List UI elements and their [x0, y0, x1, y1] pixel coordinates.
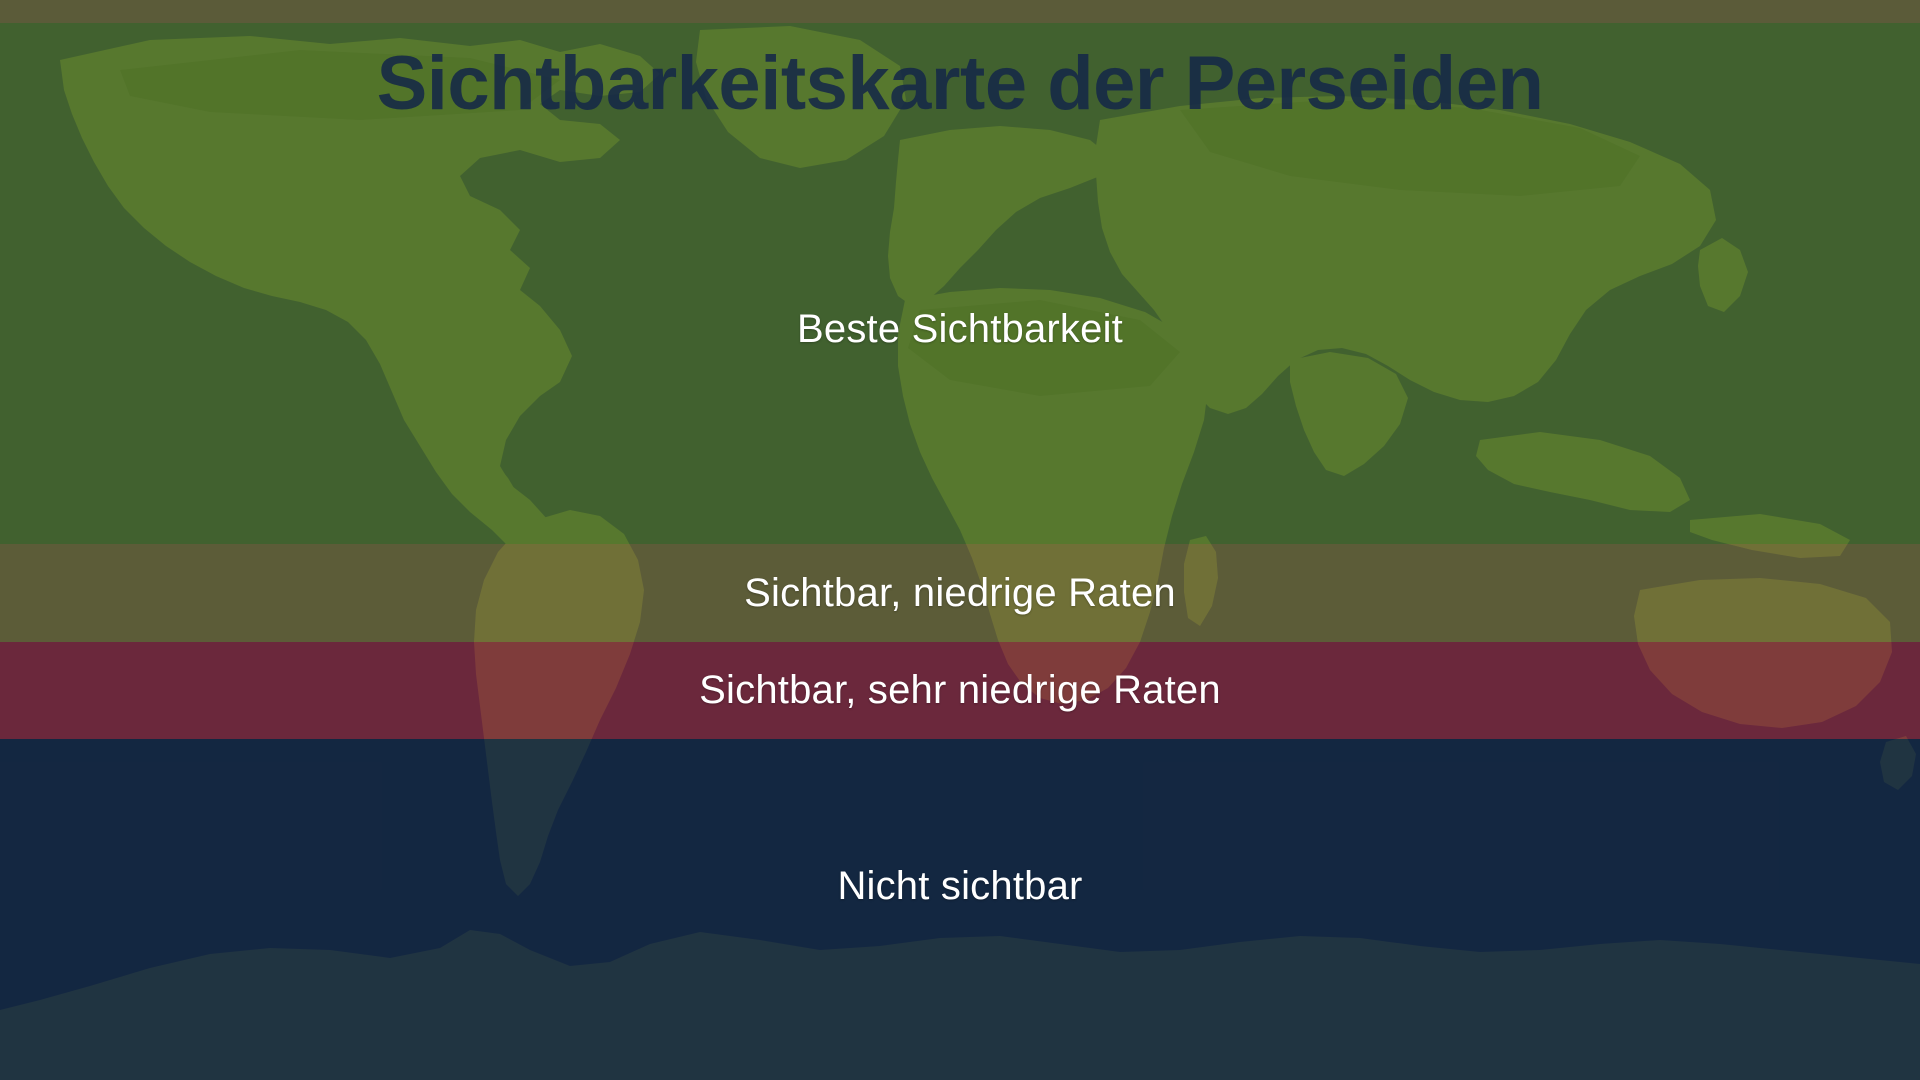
band-low-rates: Sichtbar, niedrige Raten	[0, 544, 1920, 642]
band-label-best-visibility: Beste Sichtbarkeit	[797, 307, 1123, 352]
band-top-strip	[0, 0, 1920, 23]
band-label-not-visible: Nicht sichtbar	[837, 864, 1082, 909]
band-very-low-rates: Sichtbar, sehr niedrige Raten	[0, 642, 1920, 739]
visibility-map-slide: Beste Sichtbarkeit Sichtbar, niedrige Ra…	[0, 0, 1920, 1080]
band-label-low-rates: Sichtbar, niedrige Raten	[744, 571, 1176, 616]
band-best-visibility: Beste Sichtbarkeit	[0, 23, 1920, 544]
band-label-very-low-rates: Sichtbar, sehr niedrige Raten	[699, 668, 1221, 713]
band-not-visible: Nicht sichtbar	[0, 739, 1920, 1080]
